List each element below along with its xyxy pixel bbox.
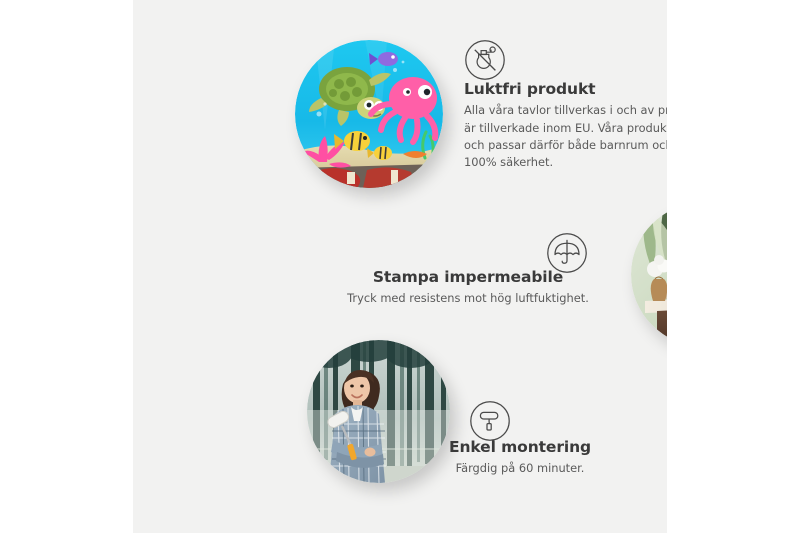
content-panel: Luktfri produkt Alla våra tavlor tillver… [133, 0, 667, 533]
feature-body: Tryck med resistens mot hög luftfuktighe… [330, 290, 606, 307]
feature-title: Enkel montering [382, 438, 658, 457]
feature-body: Färgdig på 60 minuter. [382, 460, 658, 477]
feature-title: Luktfri produkt [464, 80, 667, 99]
paint-roller-icon [469, 400, 511, 442]
feature-text-luktfri-produkt: Luktfri produkt Alla våra tavlor tillver… [464, 80, 667, 172]
feature-text-enkel-montering: Enkel montering Färgdig på 60 minuter. [382, 438, 658, 478]
infographic-canvas: Luktfri produkt Alla våra tavlor tillver… [0, 0, 800, 533]
feature-body: Alla våra tavlor tillverkas i och av pro… [464, 102, 667, 171]
no-fragrance-icon [464, 39, 506, 81]
bathroom-leaf-wallpaper-thumbnail[interactable] [631, 203, 667, 346]
feature-text-stampa-impermeabile: Stampa impermeabile Tryck med resistens … [330, 268, 606, 308]
underwater-cartoon-mural-thumbnail[interactable] [295, 40, 443, 188]
feature-title: Stampa impermeabile [330, 268, 606, 287]
thumbnail-image [295, 40, 443, 188]
thumbnail-image [631, 203, 667, 346]
